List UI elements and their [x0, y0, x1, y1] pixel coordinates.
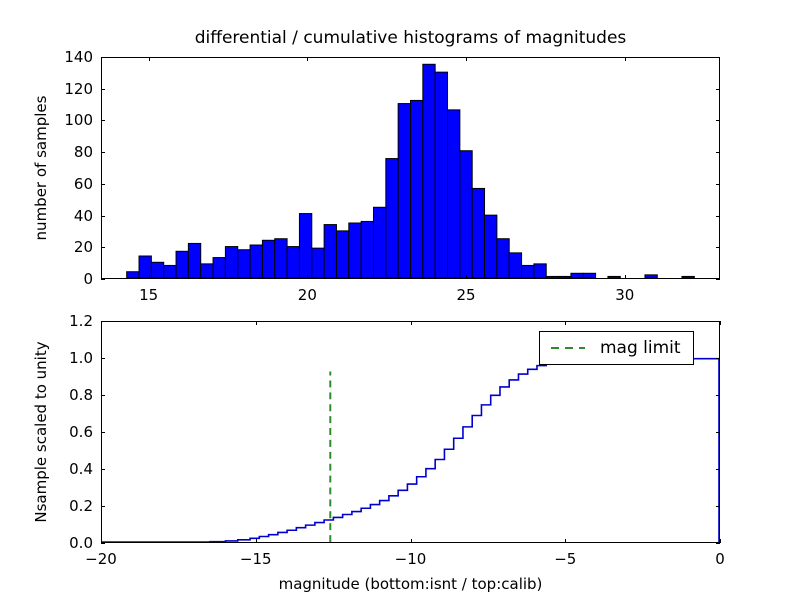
- histogram-ytick-5: [101, 120, 105, 121]
- cumulative-xticklabel-3: −5: [554, 550, 576, 568]
- histogram-bar: [485, 215, 497, 278]
- histogram-bar: [534, 264, 546, 278]
- histogram-bar: [361, 221, 373, 278]
- cumulative-ytick-right-1: [716, 506, 720, 507]
- cumulative-ytick-right-6: [716, 321, 720, 322]
- histogram-bar: [571, 273, 583, 278]
- histogram-ytick-right-3: [716, 184, 720, 185]
- histogram-xticklabel-2: 25: [457, 286, 476, 304]
- histogram-bar: [398, 104, 410, 278]
- cumulative-ytick-4: [101, 395, 105, 396]
- histogram-ytick-right-5: [716, 120, 720, 121]
- histogram-ytick-3: [101, 184, 105, 185]
- histogram-bar: [238, 250, 250, 278]
- histogram-yticklabel-1: 20: [37, 238, 93, 256]
- histogram-bar: [559, 276, 571, 278]
- histogram-bar: [213, 258, 225, 278]
- histogram-xtick-3: [625, 275, 626, 279]
- histogram-ytick-right-6: [716, 89, 720, 90]
- cumulative-curve: [102, 359, 719, 542]
- histogram-bar: [312, 248, 324, 278]
- cumulative-ytick-right-4: [716, 395, 720, 396]
- histogram-xtick-2: [466, 275, 467, 279]
- cumulative-ytick-2: [101, 469, 105, 470]
- cumulative-ytick-3: [101, 432, 105, 433]
- histogram-bar: [583, 273, 595, 278]
- histogram-bar: [250, 245, 262, 278]
- cumulative-xticklabel-2: −10: [395, 550, 427, 568]
- cumulative-yticklabel-0: 0.0: [37, 534, 93, 552]
- cumulative-ytick-6: [101, 321, 105, 322]
- histogram-bar: [682, 276, 694, 278]
- cumulative-ylabel: Nsample scaled to unity: [32, 341, 50, 522]
- cumulative-ytick-right-5: [716, 358, 720, 359]
- histogram-ytick-4: [101, 152, 105, 153]
- cumulative-xtick-top-3: [565, 321, 566, 325]
- cumulative-xtick-top-2: [411, 321, 412, 325]
- histogram-ytick-6: [101, 89, 105, 90]
- histogram-plot-area: [102, 58, 719, 278]
- histogram-xticklabel-1: 20: [298, 286, 317, 304]
- histogram-bar: [386, 159, 398, 278]
- histogram-ytick-right-7: [716, 57, 720, 58]
- cumulative-xtick-4: [720, 539, 721, 543]
- histogram-xtick-top-0: [149, 57, 150, 61]
- histogram-bar: [299, 214, 311, 278]
- histogram-bar: [497, 239, 509, 278]
- histogram-bar: [460, 151, 472, 278]
- histogram-ytick-right-2: [716, 216, 720, 217]
- figure-canvas: differential / cumulative histograms of …: [0, 0, 800, 600]
- histogram-yticklabel-0: 0: [37, 270, 93, 288]
- histogram-bar: [435, 72, 447, 278]
- histogram-xtick-top-3: [625, 57, 626, 61]
- histogram-ytick-0: [101, 279, 105, 280]
- histogram-bar: [164, 265, 176, 278]
- histogram-xticklabel-0: 15: [139, 286, 158, 304]
- cumulative-xtick-2: [411, 539, 412, 543]
- cumulative-xtick-1: [256, 539, 257, 543]
- cumulative-xticklabel-1: −15: [240, 550, 272, 568]
- histogram-ytick-7: [101, 57, 105, 58]
- legend[interactable]: mag limit: [539, 331, 694, 365]
- cumulative-xtick-top-1: [256, 321, 257, 325]
- cumulative-yticklabel-6: 1.2: [37, 312, 93, 330]
- page-title: differential / cumulative histograms of …: [101, 28, 720, 48]
- histogram-bar: [423, 64, 435, 278]
- histogram-bar: [127, 272, 139, 278]
- cumulative-xticklabel-0: −20: [85, 550, 117, 568]
- histogram-xtick-1: [307, 275, 308, 279]
- histogram-xticklabel-3: 30: [615, 286, 634, 304]
- histogram-axes: [101, 57, 720, 279]
- cumulative-ytick-5: [101, 358, 105, 359]
- histogram-bar: [373, 207, 385, 278]
- histogram-bar: [546, 276, 558, 278]
- histogram-xtick-top-2: [466, 57, 467, 61]
- histogram-ytick-1: [101, 247, 105, 248]
- cumulative-xtick-3: [565, 539, 566, 543]
- cumulative-xticklabel-4: 0: [715, 550, 725, 568]
- histogram-bar: [188, 243, 200, 278]
- cumulative-xtick-top-4: [720, 321, 721, 325]
- cumulative-ytick-right-3: [716, 432, 720, 433]
- histogram-bar: [349, 223, 361, 278]
- histogram-bar: [176, 251, 188, 278]
- histogram-bar: [608, 276, 620, 278]
- histogram-xtick-0: [149, 275, 150, 279]
- histogram-bar: [509, 253, 521, 278]
- histogram-bar: [645, 275, 657, 278]
- histogram-bar: [275, 239, 287, 278]
- histogram-yticklabel-7: 140: [37, 48, 93, 66]
- histogram-bar: [225, 247, 237, 278]
- legend-label-mag-limit: mag limit: [600, 338, 681, 358]
- histogram-bar: [151, 262, 163, 278]
- histogram-ytick-2: [101, 216, 105, 217]
- histogram-ytick-right-4: [716, 152, 720, 153]
- histogram-xtick-top-1: [307, 57, 308, 61]
- histogram-ylabel: number of samples: [32, 96, 50, 241]
- histogram-bar: [336, 231, 348, 278]
- histogram-bar: [324, 225, 336, 278]
- histogram-bars: [127, 64, 695, 278]
- mag-limit-legend-swatch: [550, 341, 586, 355]
- histogram-bar: [262, 240, 274, 278]
- histogram-ytick-right-0: [716, 279, 720, 280]
- cumulative-ytick-0: [101, 543, 105, 544]
- cumulative-ytick-right-0: [716, 543, 720, 544]
- histogram-bar: [472, 188, 484, 278]
- histogram-bar: [201, 264, 213, 278]
- histogram-bar: [411, 100, 423, 278]
- cumulative-ytick-1: [101, 506, 105, 507]
- cumulative-ytick-right-2: [716, 469, 720, 470]
- histogram-bar: [448, 110, 460, 278]
- cumulative-xlabel: magnitude (bottom:isnt / top:calib): [279, 575, 543, 593]
- histogram-ytick-right-1: [716, 247, 720, 248]
- histogram-bar: [287, 247, 299, 278]
- histogram-bar: [522, 265, 534, 278]
